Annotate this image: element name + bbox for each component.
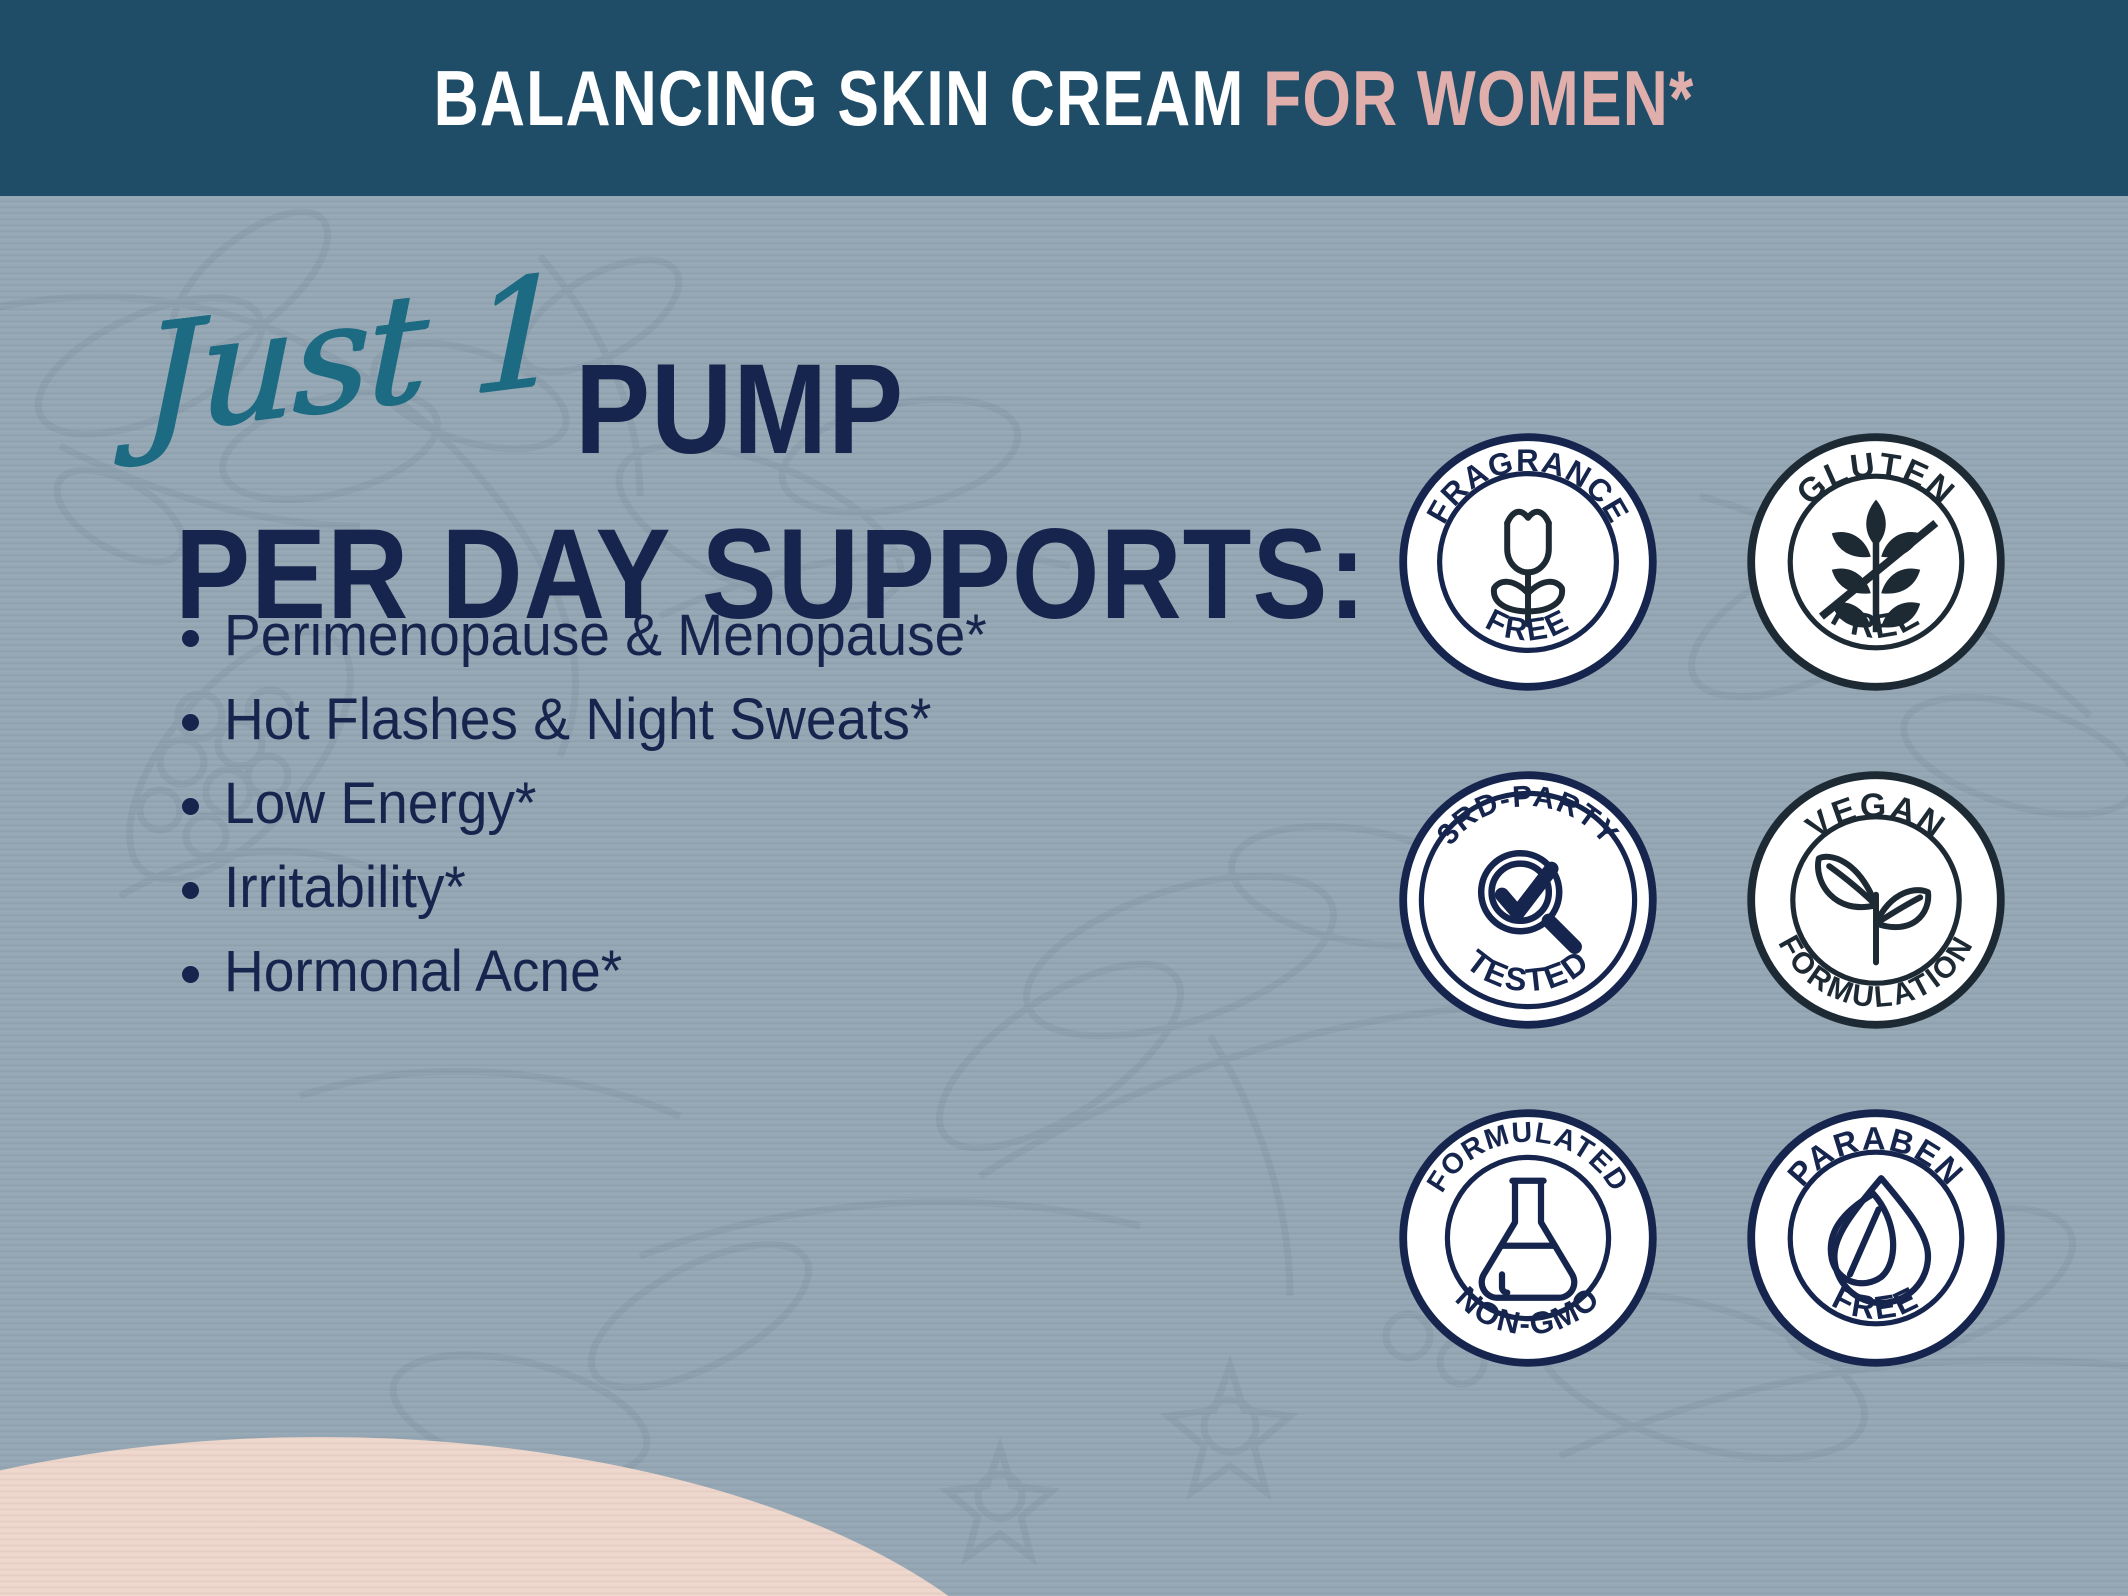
- bullet-dot-icon: [182, 630, 199, 647]
- certification-badge-grid: FRAGRANCE FREE: [1398, 432, 2028, 1368]
- list-item: Hot Flashes & Night Sweats*: [182, 690, 1027, 751]
- benefit-label: Hot Flashes & Night Sweats*: [224, 690, 931, 751]
- benefit-label: Hormonal Acne*: [224, 942, 622, 1003]
- list-item: Perimenopause & Menopause*: [182, 606, 1027, 667]
- product-benefits-banner: BALANCING SKIN CREAM FOR WOMEN* Just 1 P…: [0, 0, 2128, 1596]
- badge-vegan-formulation: VEGAN FORMULATION: [1746, 770, 2006, 1030]
- header-bar: BALANCING SKIN CREAM FOR WOMEN*: [0, 0, 2128, 196]
- list-item: Low Energy*: [182, 774, 1027, 835]
- benefit-label: Irritability*: [224, 858, 466, 919]
- headline-word-pump: PUMP: [575, 346, 904, 474]
- page-title-accent: FOR WOMEN*: [1263, 54, 1694, 142]
- badge-gluten-free: GLUTEN FREE: [1746, 432, 2006, 692]
- headline-block: Just 1 PUMP PER DAY SUPPORTS:: [120, 336, 1280, 521]
- left-content-column: Just 1 PUMP PER DAY SUPPORTS: Perimenopa…: [0, 196, 1340, 1596]
- bullet-dot-icon: [182, 966, 199, 983]
- page-title: BALANCING SKIN CREAM FOR WOMEN*: [434, 59, 1695, 137]
- badge-paraben-free: PARABEN FREE: [1746, 1108, 2006, 1368]
- page-title-primary: BALANCING SKIN CREAM: [434, 54, 1263, 142]
- list-item: Irritability*: [182, 858, 1027, 919]
- badge-formulated-non-gmo: FORMULATED NON-GMO: [1398, 1108, 1658, 1368]
- list-item: Hormonal Acne*: [182, 942, 1027, 1003]
- bullet-dot-icon: [182, 882, 199, 899]
- benefit-label: Low Energy*: [224, 774, 536, 835]
- script-just-one: Just 1: [140, 243, 565, 470]
- bullet-dot-icon: [182, 714, 199, 731]
- bullet-dot-icon: [182, 798, 199, 815]
- badge-third-party-tested: 3RD-PARTY TESTED: [1398, 770, 1658, 1030]
- badge-fragrance-free: FRAGRANCE FREE: [1398, 432, 1658, 692]
- headline-line-1: Just 1 PUMP: [120, 336, 1280, 521]
- benefits-list: Perimenopause & Menopause* Hot Flashes &…: [182, 606, 1027, 1025]
- benefit-label: Perimenopause & Menopause*: [224, 606, 987, 667]
